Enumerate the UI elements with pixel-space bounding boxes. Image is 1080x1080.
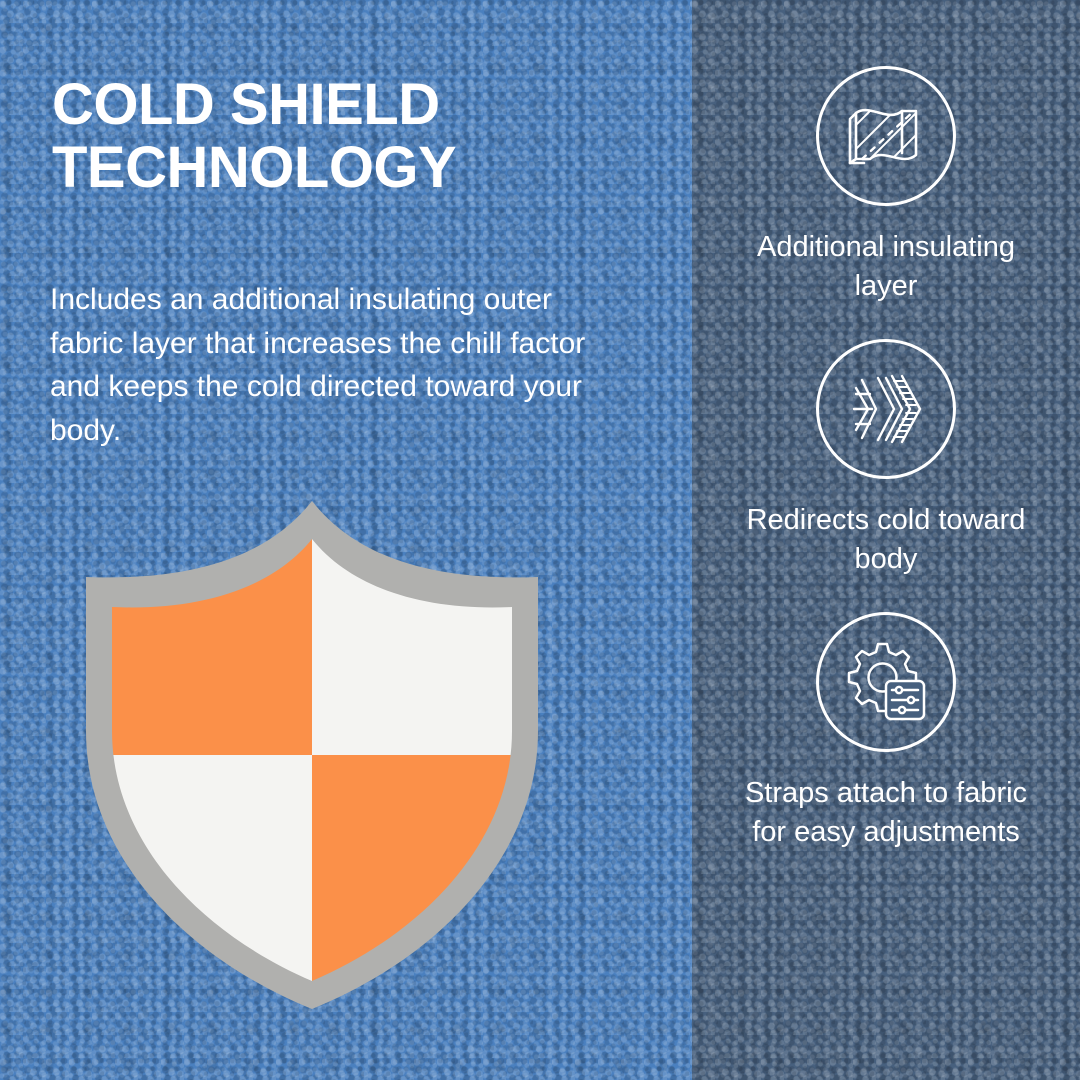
description-paragraph: Includes an additional insulating outer … [50,278,630,452]
fabric-layer-icon [816,66,956,206]
feature-list: Additional insulating layer [692,0,1080,1080]
feature-item-insulating-layer: Additional insulating layer [736,66,1036,305]
page-title-line-1: COLD SHIELD [52,74,652,137]
gear-settings-icon [816,612,956,752]
feature-label: Redirects cold toward body [736,501,1036,578]
shield-quadrants [72,495,552,1015]
page-title-line-2: TECHNOLOGY [52,137,652,200]
feature-label: Straps attach to fabric for easy adjustm… [736,774,1036,851]
feature-item-redirects-cold: Redirects cold toward body [736,339,1036,578]
page-title: COLD SHIELD TECHNOLOGY [52,74,652,199]
infographic-canvas: COLD SHIELD TECHNOLOGY Includes an addit… [0,0,1080,1080]
feature-item-straps-adjustments: Straps attach to fabric for easy adjustm… [736,612,1036,851]
shield-graphic [72,495,552,1015]
feature-label: Additional insulating layer [736,228,1036,305]
layered-chevron-icon [816,339,956,479]
